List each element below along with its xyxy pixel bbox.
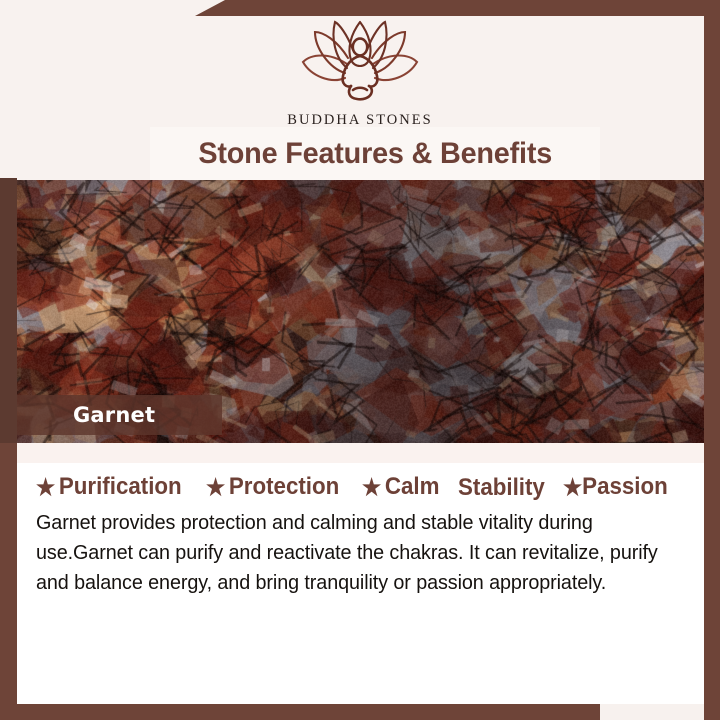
benefit-item-purification: ★Purification <box>36 473 182 501</box>
frame-top <box>195 0 720 16</box>
star-icon: ★ <box>563 476 582 499</box>
benefit-item-stability: Stability <box>458 474 545 502</box>
benefits-list: ★Purification★Protection★CalmStability★P… <box>36 473 686 502</box>
benefit-label: Passion <box>582 473 668 501</box>
star-icon: ★ <box>206 476 225 499</box>
lotus-meditation-icon <box>285 18 435 108</box>
stone-description: Garnet provides protection and calming a… <box>36 508 668 598</box>
star-icon: ★ <box>362 476 381 499</box>
benefit-label: Purification <box>59 473 182 501</box>
frame-left-lower <box>0 443 17 720</box>
benefit-label: Stability <box>458 474 545 502</box>
page-title-band: Stone Features & Benefits <box>150 127 600 180</box>
benefit-item-passion: ★Passion <box>563 473 668 501</box>
frame-right <box>704 0 720 720</box>
brand-logo: BUDDHA STONES <box>0 18 720 129</box>
stone-name-tag: Garnet <box>17 395 222 435</box>
frame-bottom <box>0 704 600 720</box>
benefit-item-protection: ★Protection <box>206 473 339 501</box>
content-card: ★Purification★Protection★CalmStability★P… <box>17 443 704 704</box>
benefit-label: Calm <box>385 473 440 501</box>
benefit-label: Protection <box>229 473 339 501</box>
benefit-item-calm: ★Calm <box>362 473 439 501</box>
page-title: Stone Features & Benefits <box>198 137 552 171</box>
frame-left-upper <box>0 178 17 443</box>
garnet-photo: Garnet <box>0 178 720 443</box>
stone-name-label: Garnet <box>73 403 155 427</box>
star-icon: ★ <box>36 476 55 499</box>
card-top-divider <box>17 443 704 463</box>
infographic-page: Garnet <box>0 0 720 720</box>
